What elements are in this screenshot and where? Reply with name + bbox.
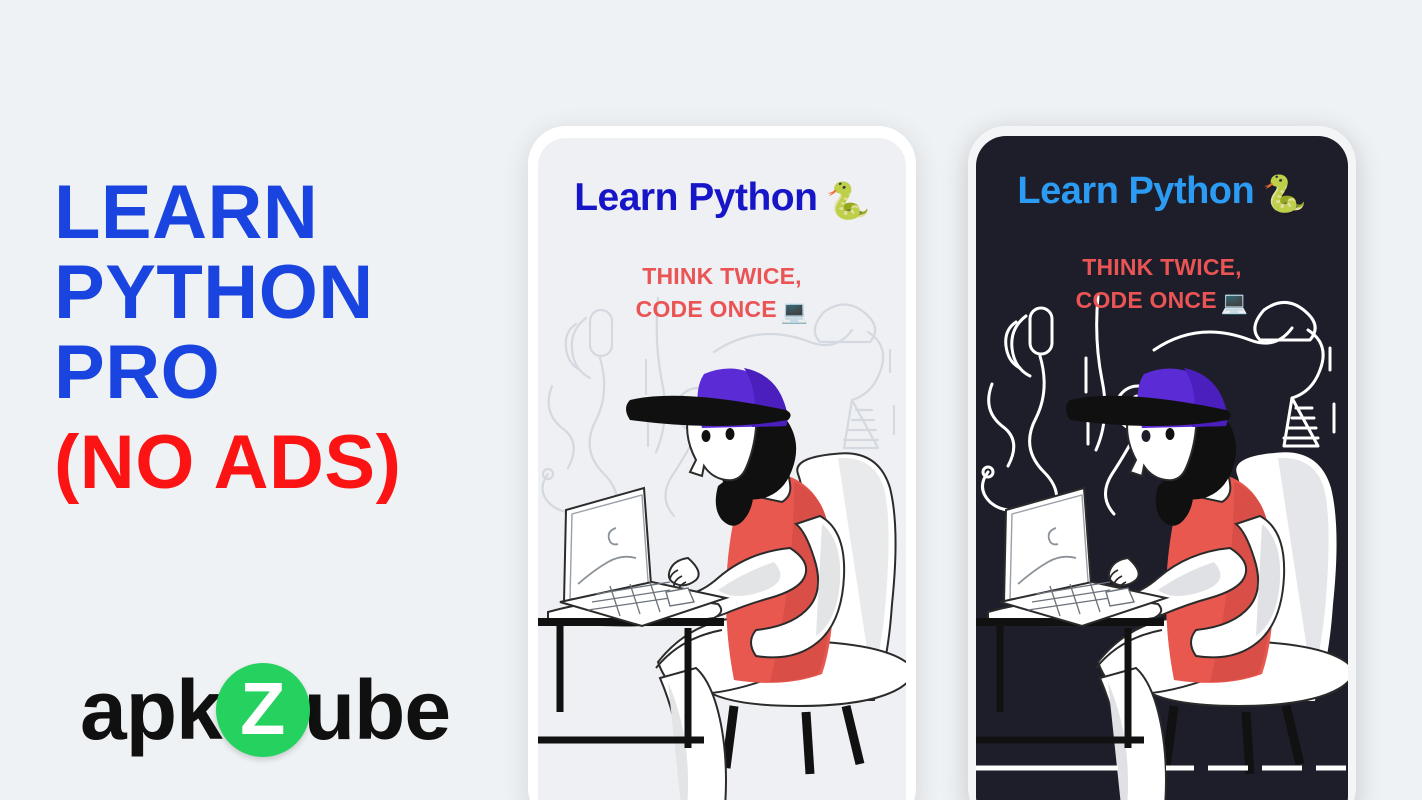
promo-headline-line-3: PRO <box>54 338 484 408</box>
phone-mockup-dark: Learn Python🐍 THINK TWICE, CODE ONCE💻 <box>968 126 1356 800</box>
tagline-line-2-wrap: CODE ONCE💻 <box>976 284 1348 318</box>
snake-icon: 🐍 <box>1262 173 1306 214</box>
tagline-line-2-wrap: CODE ONCE💻 <box>538 293 906 327</box>
app-screen-light: Learn Python🐍 THINK TWICE, CODE ONCE💻 <box>538 138 906 800</box>
promo-headline-block: LEARN PYTHON PRO (NO ADS) <box>54 178 484 498</box>
tagline-dark: THINK TWICE, CODE ONCE💻 <box>976 251 1348 318</box>
logo-text-before: apk <box>80 668 222 752</box>
tagline-line-1: THINK TWICE, <box>538 260 906 293</box>
apkzube-logo: apk Z ube <box>80 662 450 758</box>
app-title-text: Learn Python <box>1017 170 1254 212</box>
laptop-icon: 💻 <box>781 299 809 324</box>
app-title-text: Learn Python <box>574 176 817 219</box>
logo-z-badge: Z <box>216 663 310 757</box>
snake-icon: 🐍 <box>825 180 869 221</box>
app-screen-dark: Learn Python🐍 THINK TWICE, CODE ONCE💻 <box>976 136 1348 800</box>
tagline-light: THINK TWICE, CODE ONCE💻 <box>538 260 906 327</box>
promo-banner: LEARN PYTHON PRO (NO ADS) apk Z ube <box>0 0 1422 800</box>
app-title-light: Learn Python🐍 <box>538 176 906 222</box>
logo-z-letter: Z <box>240 672 285 746</box>
developer-illustration-dark <box>976 362 1348 800</box>
tagline-line-1: THINK TWICE, <box>976 251 1348 284</box>
developer-illustration-light <box>538 362 906 800</box>
tagline-line-2: CODE ONCE <box>636 296 777 322</box>
promo-headline-line-1: LEARN <box>54 178 484 248</box>
phone-mockup-light: Learn Python🐍 THINK TWICE, CODE ONCE💻 <box>528 126 916 800</box>
tagline-line-2: CODE ONCE <box>1076 287 1217 313</box>
promo-noads-label: (NO ADS) <box>54 428 484 498</box>
logo-text-after: ube <box>304 668 450 752</box>
app-title-dark: Learn Python🐍 <box>976 170 1348 215</box>
promo-headline-line-2: PYTHON <box>54 258 484 328</box>
laptop-icon: 💻 <box>1221 290 1249 315</box>
